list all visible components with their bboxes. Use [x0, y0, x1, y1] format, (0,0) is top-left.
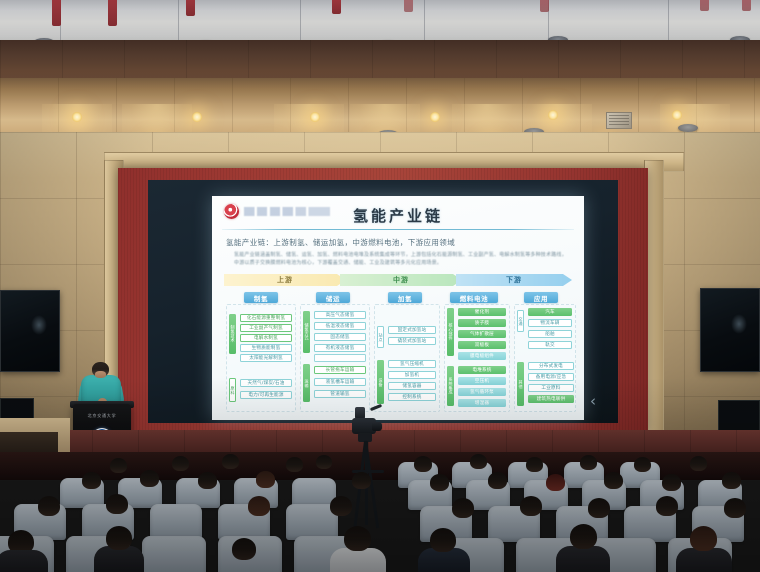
audience-head — [588, 498, 610, 518]
chip-item: 长管拖车运输 — [314, 366, 366, 374]
chip-item: 电解水制氢 — [240, 334, 292, 342]
group-tab-station: 站点 — [377, 326, 384, 348]
chip-item: 电力/可再生能源 — [240, 391, 292, 399]
downlight-icon — [672, 110, 682, 120]
chip-item: 建筑热电联供 — [528, 395, 574, 403]
column-header-refueling: 加氢 — [388, 292, 422, 303]
audience-head — [248, 496, 270, 516]
downlight-icon — [310, 112, 320, 122]
audience-head — [488, 472, 507, 489]
group-tab-production-tech: 制氢技术 — [229, 314, 236, 354]
flat-panel-display-left — [0, 290, 60, 372]
chip-item: 氢气循环泵 — [458, 388, 506, 396]
phase-banner-row: 上游 中游 下游 — [224, 274, 572, 286]
audience-head — [570, 524, 597, 549]
ceiling-red-accent — [700, 0, 709, 11]
chip-item: 电堆系统 — [458, 366, 506, 374]
group-tab-feedstock: 原料 — [229, 378, 236, 402]
audience-head — [604, 472, 623, 489]
phase-midstream: 中游 — [340, 274, 462, 286]
audience-head — [690, 456, 707, 471]
audience-head — [256, 471, 275, 488]
audience-head — [724, 498, 746, 518]
audience-head — [232, 538, 256, 560]
auditorium-scene: 氢能产业链 氢能产业链：上游制氢、储运加氢，中游燃料电池，下游应用领域 氢能产业… — [0, 0, 760, 572]
column-header-application: 应用 — [524, 292, 558, 303]
chip-item: 撬装式加氢站 — [388, 337, 436, 345]
audience-head — [222, 454, 239, 469]
upper-wall — [0, 78, 760, 136]
audience-head — [580, 455, 597, 470]
downlight-icon — [192, 112, 202, 122]
ceiling-red-accent — [52, 0, 61, 26]
chip-item: 工业原料 — [528, 384, 574, 392]
downlight-icon — [72, 112, 82, 122]
slide-nav-previous-icon[interactable]: ‹ — [590, 392, 596, 410]
column-header-storage: 储运 — [316, 292, 350, 303]
audience-area — [0, 452, 760, 572]
chip-item: 化石能源重整制氢 — [240, 314, 292, 322]
audience-head — [140, 470, 159, 487]
chip-item: 控制系统 — [388, 393, 436, 401]
audience-head — [452, 498, 474, 518]
chip-item: 氢气压缩机 — [388, 360, 436, 368]
chip-item — [314, 354, 366, 362]
chip-item: 质子膜 — [458, 319, 506, 327]
group-tab-core-components: 核心部件 — [447, 308, 454, 356]
audience-head — [344, 526, 371, 551]
audience-head — [546, 474, 565, 491]
chip-item: 固定式加氢站 — [388, 326, 436, 334]
chip-item: 有机液态储氢 — [314, 344, 366, 352]
group-tab-transportation: 交通 — [517, 310, 524, 332]
chip-item: 空压机 — [458, 377, 506, 385]
audience-head — [82, 472, 101, 489]
ceiling-red-accent — [332, 0, 341, 14]
chip-item: 生物质能制氢 — [240, 344, 292, 352]
audience-head — [316, 455, 332, 469]
audience-shoulders — [0, 550, 48, 572]
audience-shoulders — [676, 548, 732, 572]
ceiling-dark-band — [0, 40, 760, 82]
flat-panel-display-right — [700, 288, 760, 372]
chip-item: 管道输氢 — [314, 390, 366, 398]
title-divider — [222, 229, 574, 230]
camera-lens-icon — [372, 422, 382, 431]
chip-item: 分布式发电 — [528, 362, 574, 370]
ceiling-spotlight-icon — [678, 124, 698, 132]
chip-item: 工业副产气制氢 — [240, 324, 292, 332]
chip-item: 液氢槽车运输 — [314, 378, 366, 386]
chip-item: 天然气/煤炭/石油 — [240, 379, 292, 387]
audience-head — [330, 496, 352, 516]
audience-head — [520, 496, 542, 516]
audience-head — [286, 457, 303, 472]
audience-head — [662, 474, 681, 491]
chip-item: 备用电源/应急 — [528, 373, 574, 381]
audience-head — [690, 526, 717, 551]
chip-item: 储氢容器 — [388, 382, 436, 390]
group-tab-system-integration: 系统集成 — [447, 366, 454, 406]
slide-lead-text: 氢能产业链：上游制氢、储运加氢，中游燃料电池，下游应用领域 — [226, 237, 455, 248]
chip-item: 低温液态储氢 — [314, 322, 366, 330]
chip-item: 汽车 — [528, 308, 572, 316]
chip-item: 气体扩散层 — [458, 330, 506, 338]
chip-item: 船舶 — [528, 330, 572, 338]
audience-head — [470, 454, 487, 469]
podium-label: 北京交通大学 — [73, 413, 131, 419]
audience-head — [722, 472, 741, 489]
phase-downstream: 下游 — [456, 274, 572, 286]
ceiling-red-accent — [540, 0, 549, 12]
group-tab-other-applications: 其他 — [517, 362, 524, 406]
ceiling-red-accent — [404, 0, 413, 12]
audience-head — [526, 457, 543, 472]
group-tab-storage-method: 储氢方式 — [303, 311, 310, 353]
column-header-production: 制氢 — [244, 292, 278, 303]
chip-item: 太阳能光解制氢 — [240, 354, 292, 362]
chip-item: 双极板 — [458, 341, 506, 349]
ceiling-red-accent — [186, 0, 195, 16]
seat — [150, 504, 202, 540]
group-tab-transport: 运输 — [303, 364, 310, 402]
ceiling-red-accent — [108, 0, 117, 26]
ceiling-red-accent — [742, 0, 751, 11]
ceiling-vent-icon — [606, 112, 632, 129]
group-tab-equipment: 设备 — [377, 360, 384, 404]
audience-head — [656, 496, 678, 516]
chip-item: 加氢机 — [388, 371, 436, 379]
speaker-face — [95, 371, 106, 378]
chip-item: 轨交 — [528, 341, 572, 349]
audience-head — [430, 474, 449, 491]
slide-title: 氢能产业链 — [212, 205, 584, 226]
audience-shoulders — [556, 546, 610, 572]
chip-item: 催化剂 — [458, 308, 506, 316]
audience-head — [414, 456, 432, 472]
presentation-slide[interactable]: 氢能产业链 氢能产业链：上游制氢、储运加氢，中游燃料电池，下游应用领域 氢能产业… — [212, 196, 584, 420]
audience-head — [106, 494, 128, 514]
audience-head — [352, 472, 371, 489]
audience-head — [198, 472, 217, 489]
downlight-icon — [548, 110, 558, 120]
downlight-icon — [430, 112, 440, 122]
chip-item: 增湿器 — [458, 399, 506, 407]
audience-head — [110, 458, 127, 473]
column-header-fuelcell: 燃料电池 — [450, 292, 498, 303]
audience-head — [634, 457, 651, 472]
audience-shoulders — [330, 548, 386, 572]
chip-item: 膜电极组件 — [458, 352, 506, 360]
slide-body-text-2: 中游以质子交换膜燃料电池为核心，下游覆盖交通、储能、工业及建筑等多元化应用场景。 — [234, 259, 442, 266]
phase-upstream: 上游 — [224, 274, 346, 286]
audience-head — [38, 496, 60, 516]
chip-item: 固态储氢 — [314, 333, 366, 341]
slide-body-text-1: 氢能产业链涵盖制氢、储氢、运氢、加氢、燃料电池电堆及系统集成等环节，上游包括化石… — [234, 251, 567, 258]
seat — [142, 536, 206, 572]
audience-head — [106, 526, 132, 550]
audience-head — [172, 456, 189, 471]
chip-item: 物流车辆 — [528, 319, 572, 327]
audience-head — [430, 528, 456, 552]
chip-item: 高压气态储氢 — [314, 311, 366, 319]
